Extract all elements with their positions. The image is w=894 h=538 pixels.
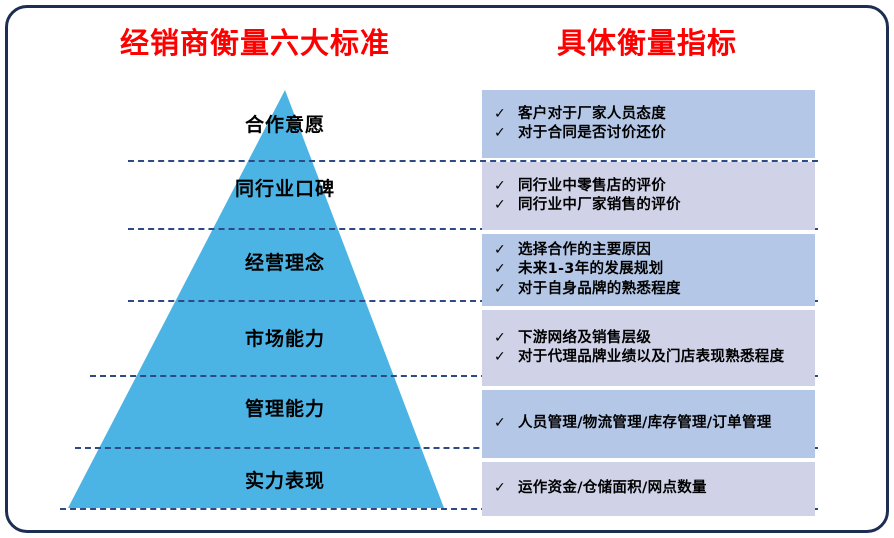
metrics-row: ✓客户对于厂家人员态度✓对于合同是否讨价还价 bbox=[482, 90, 815, 158]
pyramid-level-label-4: 市场能力 bbox=[185, 330, 385, 349]
metrics-bullet-text: 客户对于厂家人员态度 bbox=[518, 105, 805, 124]
metrics-bullet-item: ✓对于自身品牌的熟悉程度 bbox=[494, 280, 805, 299]
metrics-bullet-item: ✓运作资金/仓储面积/网点数量 bbox=[494, 479, 805, 498]
metrics-bullet-item: ✓未来1-3年的发展规划 bbox=[494, 260, 805, 279]
check-icon: ✓ bbox=[494, 479, 518, 497]
check-icon: ✓ bbox=[494, 177, 518, 195]
page-title-right: 具体衡量指标 bbox=[557, 29, 737, 58]
metrics-panel: ✓客户对于厂家人员态度✓对于合同是否讨价还价✓同行业中零售店的评价✓同行业中厂家… bbox=[482, 90, 815, 520]
check-icon: ✓ bbox=[494, 105, 518, 123]
pyramid-level-label-2: 同行业口碑 bbox=[185, 180, 385, 199]
metrics-bullet-text: 对于合同是否讨价还价 bbox=[518, 124, 805, 143]
metrics-bullet-text: 人员管理/物流管理/库存管理/订单管理 bbox=[518, 414, 805, 433]
check-icon: ✓ bbox=[494, 280, 518, 298]
metrics-row: ✓下游网络及销售层级✓对于代理品牌业绩以及门店表现熟悉程度 bbox=[482, 310, 815, 386]
metrics-bullet-text: 运作资金/仓储面积/网点数量 bbox=[518, 479, 805, 498]
metrics-bullet-item: ✓人员管理/物流管理/库存管理/订单管理 bbox=[494, 414, 805, 433]
check-icon: ✓ bbox=[494, 348, 518, 366]
metrics-bullet-item: ✓对于合同是否讨价还价 bbox=[494, 124, 805, 143]
metrics-bullet-item: ✓下游网络及销售层级 bbox=[494, 329, 805, 348]
slide-canvas: 经销商衡量六大标准 具体衡量指标 合作意愿 同行业口碑 经营理念 市场能力 管理… bbox=[0, 0, 894, 538]
metrics-bullet-text: 对于自身品牌的熟悉程度 bbox=[518, 280, 805, 299]
metrics-row: ✓人员管理/物流管理/库存管理/订单管理 bbox=[482, 390, 815, 458]
pyramid-level-label-1: 合作意愿 bbox=[185, 116, 385, 135]
metrics-bullet-item: ✓同行业中厂家销售的评价 bbox=[494, 196, 805, 215]
check-icon: ✓ bbox=[494, 196, 518, 214]
check-icon: ✓ bbox=[494, 241, 518, 259]
metrics-row: ✓选择合作的主要原因✓未来1-3年的发展规划✓对于自身品牌的熟悉程度 bbox=[482, 234, 815, 306]
pyramid-level-label-6: 实力表现 bbox=[185, 472, 385, 491]
pyramid-level-label-5: 管理能力 bbox=[185, 400, 385, 419]
metrics-bullet-item: ✓对于代理品牌业绩以及门店表现熟悉程度 bbox=[494, 348, 805, 367]
metrics-bullet-item: ✓客户对于厂家人员态度 bbox=[494, 105, 805, 124]
check-icon: ✓ bbox=[494, 414, 518, 432]
metrics-bullet-item: ✓选择合作的主要原因 bbox=[494, 241, 805, 260]
metrics-row: ✓运作资金/仓储面积/网点数量 bbox=[482, 462, 815, 516]
metrics-bullet-text: 下游网络及销售层级 bbox=[518, 329, 805, 348]
metrics-bullet-text: 未来1-3年的发展规划 bbox=[518, 260, 805, 279]
metrics-bullet-item: ✓同行业中零售店的评价 bbox=[494, 177, 805, 196]
metrics-row: ✓同行业中零售店的评价✓同行业中厂家销售的评价 bbox=[482, 162, 815, 230]
metrics-bullet-text: 选择合作的主要原因 bbox=[518, 241, 805, 260]
check-icon: ✓ bbox=[494, 260, 518, 278]
check-icon: ✓ bbox=[494, 329, 518, 347]
pyramid-level-label-3: 经营理念 bbox=[185, 254, 385, 273]
metrics-bullet-text: 同行业中厂家销售的评价 bbox=[518, 196, 805, 215]
metrics-bullet-text: 对于代理品牌业绩以及门店表现熟悉程度 bbox=[518, 348, 805, 367]
metrics-bullet-text: 同行业中零售店的评价 bbox=[518, 177, 805, 196]
check-icon: ✓ bbox=[494, 124, 518, 142]
